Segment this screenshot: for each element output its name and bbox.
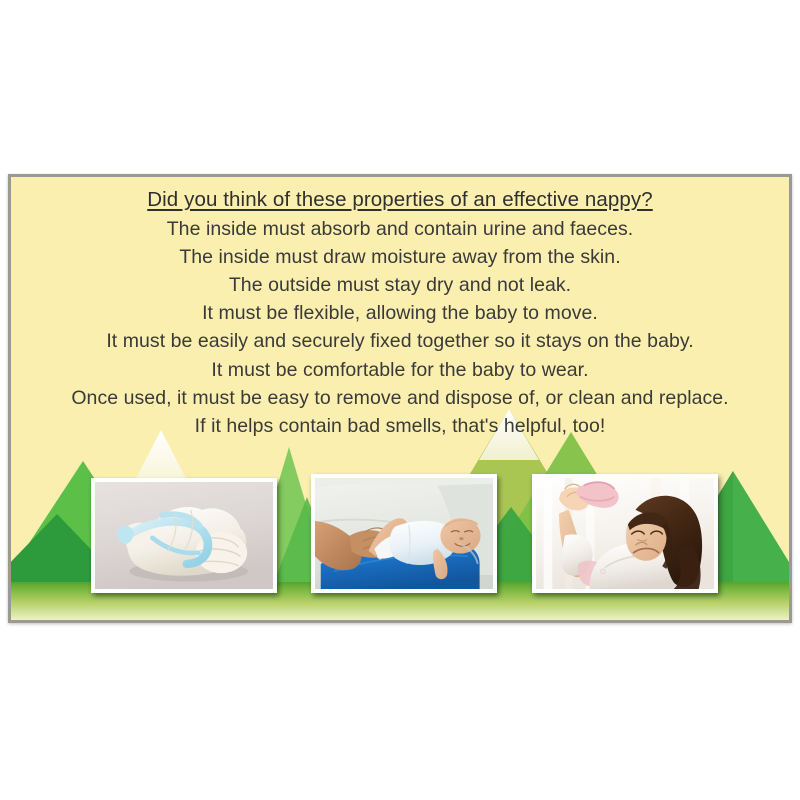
body-line-6: It must be comfortable for the baby to w… (11, 356, 789, 384)
body-line-4: It must be flexible, allowing the baby t… (11, 299, 789, 327)
body-line-8: If it helps contain bad smells, that's h… (11, 412, 789, 440)
presentation-slide: Did you think of these properties of an … (8, 174, 792, 623)
body-line-1: The inside must absorb and contain urine… (11, 215, 789, 243)
slide-text-block: Did you think of these properties of an … (11, 185, 789, 440)
photo-folded-nappy (91, 478, 277, 593)
photo-changing-baby (311, 474, 497, 593)
body-line-3: The outside must stay dry and not leak. (11, 271, 789, 299)
photo-woman-holding-nappy (532, 474, 718, 593)
body-line-7: Once used, it must be easy to remove and… (11, 384, 789, 412)
body-line-5: It must be easily and securely fixed tog… (11, 327, 789, 355)
body-line-2: The inside must draw moisture away from … (11, 243, 789, 271)
slide-title: Did you think of these properties of an … (11, 185, 789, 214)
slide-canvas: Did you think of these properties of an … (0, 0, 800, 800)
